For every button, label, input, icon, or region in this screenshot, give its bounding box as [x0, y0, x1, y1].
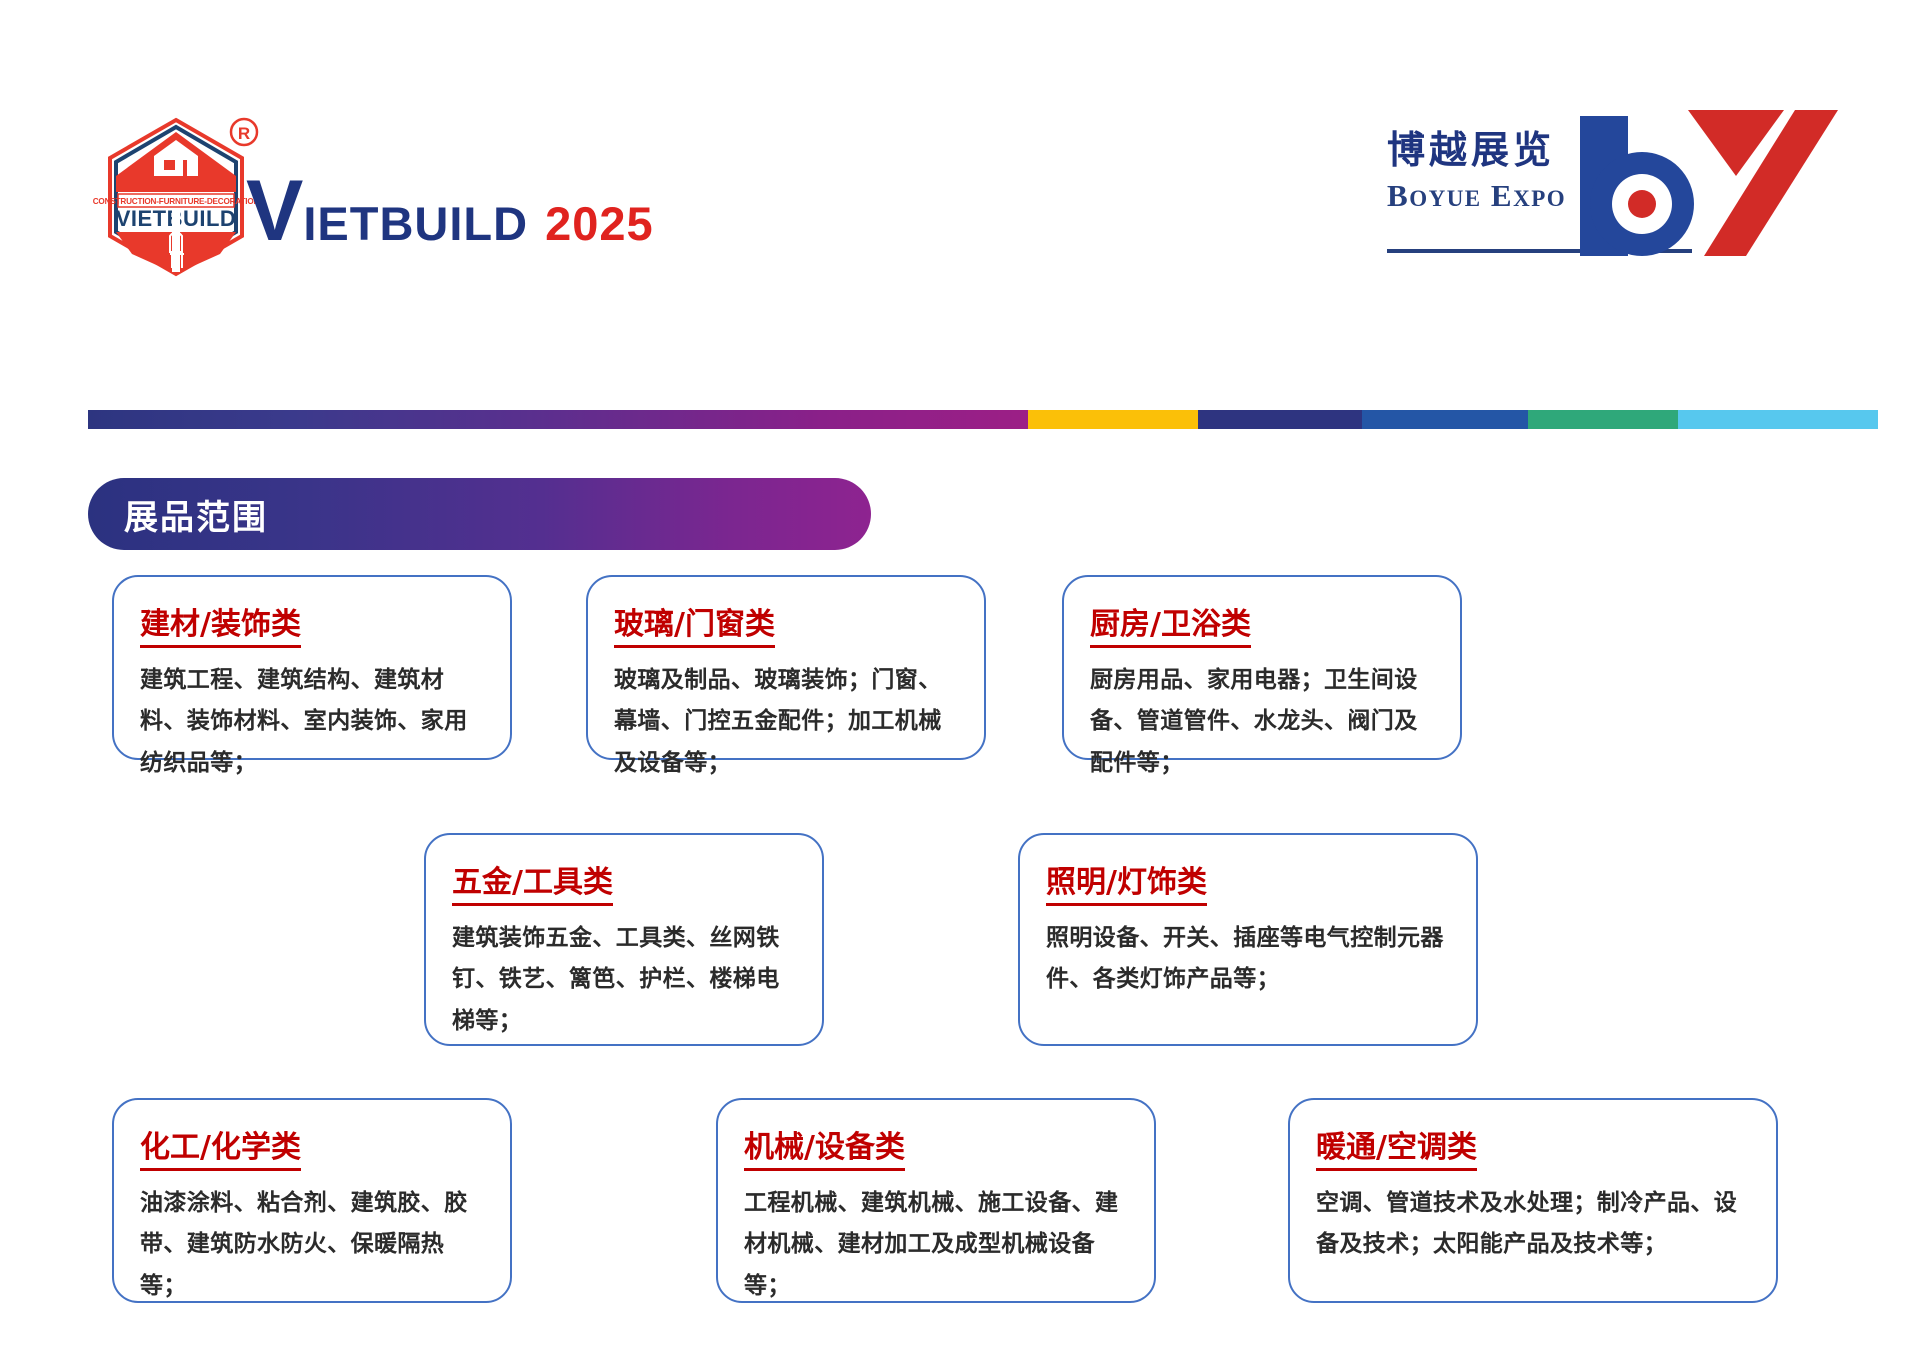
card-title: 化工/化学类	[140, 1130, 301, 1171]
card-title-wrap: 照明/灯饰类	[1046, 865, 1450, 906]
colorbar-segment-cyan	[1678, 410, 1878, 429]
card-body: 建筑工程、建筑结构、建筑材料、装饰材料、室内装饰、家用纺织品等；	[140, 660, 484, 786]
boyue-en-b: B	[1387, 178, 1409, 213]
category-card-lighting[interactable]: 照明/灯饰类 照明设备、开关、插座等电气控制元器件、各类灯饰产品等；	[1018, 833, 1478, 1046]
colorbar-segment-blue	[1362, 410, 1528, 429]
card-body: 空调、管道技术及水处理；制冷产品、设备及技术；太阳能产品及技术等；	[1316, 1183, 1750, 1267]
category-card-kitchen-bathroom[interactable]: 厨房/卫浴类 厨房用品、家用电器；卫生间设备、管道管件、水龙头、阀门及配件等；	[1062, 575, 1462, 760]
card-title: 厨房/卫浴类	[1090, 607, 1251, 648]
colorbar-segment-yellow	[1028, 410, 1198, 429]
category-card-building-materials[interactable]: 建材/装饰类 建筑工程、建筑结构、建筑材料、装饰材料、室内装饰、家用纺织品等；	[112, 575, 512, 760]
card-title-wrap: 厨房/卫浴类	[1090, 607, 1434, 648]
boyue-en-xpo: XPO	[1513, 186, 1566, 211]
colorbar-segment-green	[1528, 410, 1678, 429]
card-body: 建筑装饰五金、工具类、丝网铁钉、铁艺、篱笆、护栏、楼梯电梯等；	[452, 918, 796, 1044]
category-card-chemicals[interactable]: 化工/化学类 油漆涂料、粘合剂、建筑胶、胶带、建筑防水防火、保暖隔热等；	[112, 1098, 512, 1303]
colorbar-segment-navy	[1198, 410, 1362, 429]
vietbuild-logo: CONSTRUCTION-FURNITURE-DECORATION VIETBU…	[92, 104, 264, 290]
card-title: 建材/装饰类	[140, 607, 301, 648]
wordmark-initial: V	[246, 168, 302, 254]
wordmark-rest: IETBUILD	[303, 200, 528, 247]
card-title: 五金/工具类	[452, 865, 613, 906]
card-body: 玻璃及制品、玻璃装饰；门窗、幕墙、门控五金配件；加工机械及设备等；	[614, 660, 958, 786]
category-card-machinery[interactable]: 机械/设备类 工程机械、建筑机械、施工设备、建材机械、建材加工及成型机械设备等；	[716, 1098, 1156, 1303]
card-title: 暖通/空调类	[1316, 1130, 1477, 1171]
vietbuild-tagline: CONSTRUCTION-FURNITURE-DECORATION	[93, 197, 260, 206]
page-header: CONSTRUCTION-FURNITURE-DECORATION VIETBU…	[0, 0, 1920, 330]
category-card-hvac[interactable]: 暖通/空调类 空调、管道技术及水处理；制冷产品、设备及技术；太阳能产品及技术等；	[1288, 1098, 1778, 1303]
card-title-wrap: 五金/工具类	[452, 865, 796, 906]
card-title: 机械/设备类	[744, 1130, 905, 1171]
card-body: 油漆涂料、粘合剂、建筑胶、胶带、建筑防水防火、保暖隔热等；	[140, 1183, 484, 1309]
card-title-wrap: 建材/装饰类	[140, 607, 484, 648]
wordmark-year: 2025	[545, 200, 654, 247]
card-body: 照明设备、开关、插座等电气控制元器件、各类灯饰产品等；	[1046, 918, 1450, 1002]
colorbar-segment-gradient-indigo-magenta	[88, 410, 1028, 429]
card-body: 厨房用品、家用电器；卫生间设备、管道管件、水龙头、阀门及配件等；	[1090, 660, 1434, 786]
card-title-wrap: 化工/化学类	[140, 1130, 484, 1171]
boyue-en-oyue: OYUE	[1409, 186, 1481, 211]
boyue-by-mark-icon	[1570, 108, 1838, 256]
vietbuild-wordmark: V IETBUILD 2025	[246, 168, 654, 258]
boyue-expo-logo: 博越展览 BOYUE EXPO	[1387, 108, 1837, 253]
section-heading-pill: 展品范围	[88, 478, 871, 550]
decorative-color-bar	[88, 410, 1878, 429]
card-title: 照明/灯饰类	[1046, 865, 1207, 906]
card-body: 工程机械、建筑机械、施工设备、建材机械、建材加工及成型机械设备等；	[744, 1183, 1128, 1309]
svg-text:R: R	[238, 124, 250, 143]
section-title: 展品范围	[124, 490, 268, 539]
card-title-wrap: 玻璃/门窗类	[614, 607, 958, 648]
category-card-hardware-tools[interactable]: 五金/工具类 建筑装饰五金、工具类、丝网铁钉、铁艺、篱笆、护栏、楼梯电梯等；	[424, 833, 824, 1046]
category-card-glass-doors-windows[interactable]: 玻璃/门窗类 玻璃及制品、玻璃装饰；门窗、幕墙、门控五金配件；加工机械及设备等；	[586, 575, 986, 760]
card-title-wrap: 暖通/空调类	[1316, 1130, 1750, 1171]
boyue-en-e: E	[1491, 178, 1513, 213]
card-title: 玻璃/门窗类	[614, 607, 775, 648]
card-title-wrap: 机械/设备类	[744, 1130, 1128, 1171]
